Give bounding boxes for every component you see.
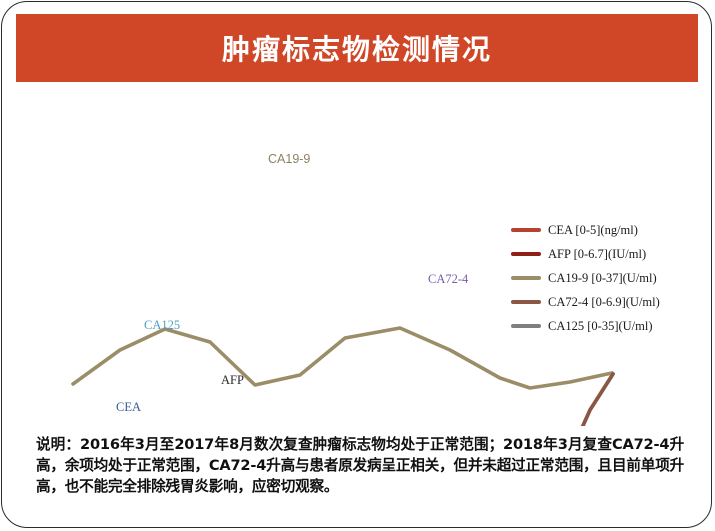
series-line-ca72-4 — [73, 374, 613, 426]
legend-swatch-ca72-4 — [511, 300, 541, 304]
legend-item-ca72-4[interactable]: CA72-4 [0-6.9](U/ml) — [511, 290, 711, 314]
slide-root: 肿瘤标志物检测情况 CA19-9 CA72-4 CA125 AFP CEA CE… — [0, 0, 715, 531]
legend-swatch-ca125 — [511, 324, 541, 328]
legend-swatch-ca19-9 — [511, 276, 541, 280]
page-title: 肿瘤标志物检测情况 — [222, 28, 492, 68]
legend-swatch-cea — [511, 228, 541, 232]
chart-legend: CEA [0-5](ng/ml) AFP [0-6.7](IU/ml) CA19… — [511, 218, 711, 338]
legend-label-cea: CEA [0-5](ng/ml) — [548, 223, 638, 238]
legend-item-afp[interactable]: AFP [0-6.7](IU/ml) — [511, 242, 711, 266]
legend-label-afp: AFP [0-6.7](IU/ml) — [548, 247, 646, 262]
legend-item-ca19-9[interactable]: CA19-9 [0-37](U/ml) — [511, 266, 711, 290]
legend-label-ca125: CA125 [0-35](U/ml) — [548, 319, 653, 334]
legend-swatch-afp — [511, 252, 541, 256]
description-text: 说明：2016年3月至2017年8月数次复查肿瘤标志物均处于正常范围；2018年… — [36, 434, 684, 497]
legend-label-ca72-4: CA72-4 [0-6.9](U/ml) — [548, 295, 660, 310]
legend-item-cea[interactable]: CEA [0-5](ng/ml) — [511, 218, 711, 242]
title-banner: 肿瘤标志物检测情况 — [16, 14, 698, 82]
legend-item-ca125[interactable]: CA125 [0-35](U/ml) — [511, 314, 711, 338]
legend-label-ca19-9: CA19-9 [0-37](U/ml) — [548, 271, 657, 286]
